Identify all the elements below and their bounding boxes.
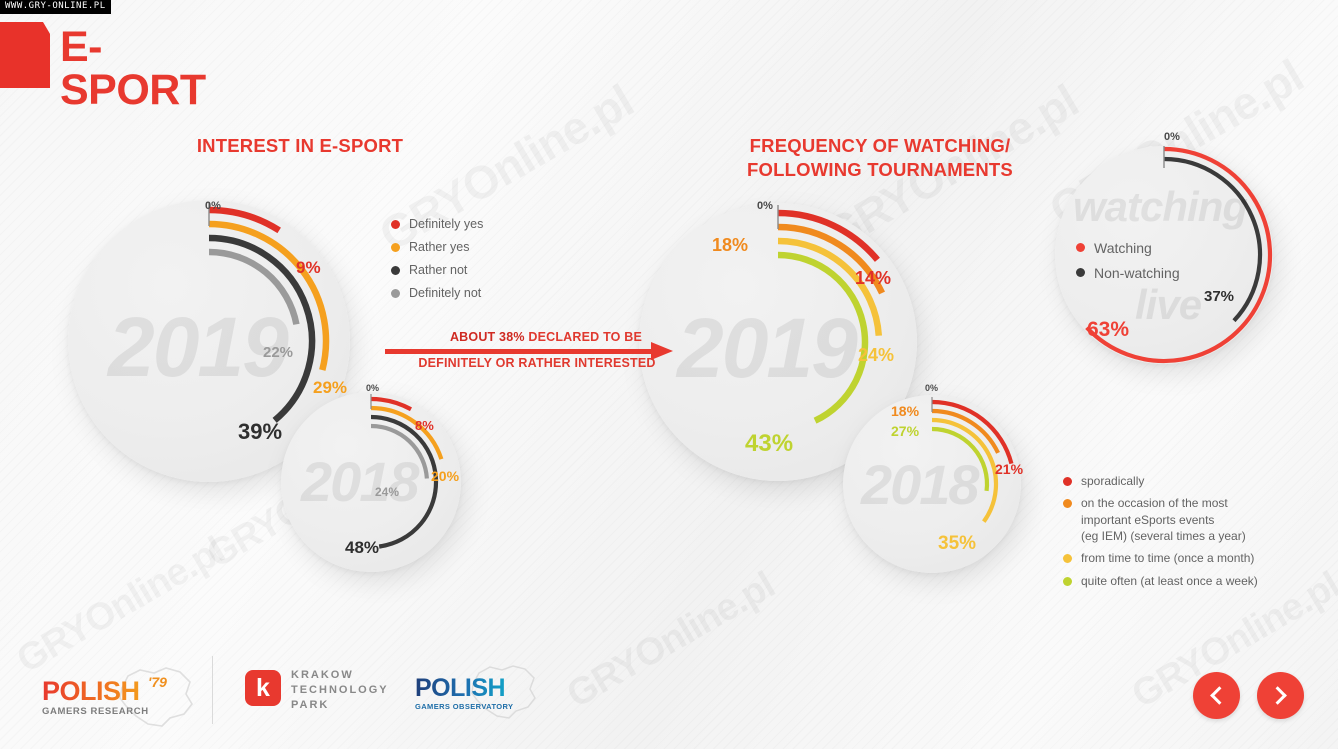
legend-item-label: Non-watching xyxy=(1094,264,1180,283)
callout-arrow xyxy=(385,346,685,355)
section-title-frequency: FREQUENCY OF WATCHING/ FOLLOWING TOURNAM… xyxy=(700,134,1060,181)
ktp-line-1: KRAKOW xyxy=(291,668,389,683)
value-label-non-watching: 37% xyxy=(1204,288,1234,305)
value-label-definitely-yes-2019: 9% xyxy=(296,258,321,278)
donut-arcs xyxy=(843,395,1021,573)
legend-color-dot-icon xyxy=(391,289,400,298)
legend-color-dot-icon xyxy=(1063,477,1072,486)
legend-color-dot-icon xyxy=(391,243,400,252)
legend-item[interactable]: Watching xyxy=(1076,239,1226,258)
zero-tick-label: 0% xyxy=(366,383,379,393)
legend-item-label: Definitely yes xyxy=(409,216,483,233)
legend-item[interactable]: from time to time (once a month) xyxy=(1063,550,1303,566)
legend-item-label: Rather yes xyxy=(409,239,469,256)
logo-pgo-word: POLISH xyxy=(415,676,505,701)
arc-definitely-not xyxy=(371,426,427,478)
callout-line-2: DEFINITELY OR RATHER INTERESTED xyxy=(389,356,685,370)
legend-item[interactable]: Definitely not xyxy=(391,285,571,302)
donut-frequency-2018: 2018 xyxy=(843,395,1021,573)
page-footer: POLISH '79 GAMERS RESEARCH k KRAKOW TECH… xyxy=(0,644,1338,749)
logo-pgr-word: POLISH xyxy=(42,678,140,705)
arrow-head-icon xyxy=(651,342,673,360)
legend-interest: Definitely yesRather yesRather notDefini… xyxy=(391,216,571,308)
value-label-rather-not-2019: 39% xyxy=(238,419,282,445)
section-title-frequency-line1: FREQUENCY OF WATCHING/ xyxy=(700,134,1060,158)
legend-item[interactable]: quite often (at least once a week) xyxy=(1063,573,1303,589)
callout-interest-summary: ABOUT 38% DECLARED TO BE DEFINITELY OR R… xyxy=(385,330,685,370)
logo-polish-gamers-observatory: POLISH GAMERS OBSERVATORY xyxy=(413,664,533,724)
logo-pgr-year: '79 xyxy=(148,674,167,690)
page-title: E-SPORT xyxy=(60,26,206,112)
legend-item-label: Rather not xyxy=(409,262,467,279)
value-label-definitely-not-2019: 22% xyxy=(263,344,293,361)
ktp-line-3: PARK xyxy=(291,698,389,713)
legend-item[interactable]: Rather yes xyxy=(391,239,571,256)
next-slide-button[interactable] xyxy=(1257,672,1304,719)
value-label-definitely-yes-2018: 8% xyxy=(415,418,434,433)
ktp-wordmark: KRAKOW TECHNOLOGY PARK xyxy=(291,668,389,713)
legend-item[interactable]: Rather not xyxy=(391,262,571,279)
legend-item-label: on the occasion of the most important eS… xyxy=(1081,495,1246,544)
previous-slide-button[interactable] xyxy=(1193,672,1240,719)
arc-definitely-not xyxy=(209,252,296,324)
section-title-interest: INTEREST IN E-SPORT xyxy=(150,134,450,158)
footer-divider xyxy=(212,656,213,724)
value-label-quite-often-2018: 27% xyxy=(891,423,919,439)
logo-krakow-technology-park: k KRAKOW TECHNOLOGY PARK xyxy=(245,664,420,724)
legend-item-label: Watching xyxy=(1094,239,1152,258)
value-label-occasion-2019: 18% xyxy=(712,235,748,256)
legend-color-dot-icon xyxy=(1063,554,1072,563)
arc-on-the-occasion xyxy=(932,411,998,453)
legend-color-dot-icon xyxy=(1076,268,1085,277)
zero-tick-label: 0% xyxy=(205,200,221,212)
legend-color-dot-icon xyxy=(1063,499,1072,508)
legend-item-label: sporadically xyxy=(1081,473,1144,489)
value-label-definitely-not-2018: 24% xyxy=(375,485,399,499)
legend-color-dot-icon xyxy=(1063,577,1072,586)
value-label-sporadically-2019: 14% xyxy=(855,268,891,289)
value-label-occasion-2018: 18% xyxy=(891,403,919,419)
zero-tick-label: 0% xyxy=(757,200,773,212)
legend-color-dot-icon xyxy=(1076,243,1085,252)
value-label-quite-often-2019: 43% xyxy=(745,430,793,458)
zero-tick-label: 0% xyxy=(1164,131,1180,143)
legend-item-label: from time to time (once a month) xyxy=(1081,550,1254,566)
logo-pgr-subtitle: GAMERS RESEARCH xyxy=(42,706,149,717)
legend-item-label: quite often (at least once a week) xyxy=(1081,573,1258,589)
value-label-time-to-time-2019: 24% xyxy=(858,345,894,366)
legend-item[interactable]: Definitely yes xyxy=(391,216,571,233)
legend-watching: WatchingNon-watching xyxy=(1076,239,1226,289)
header-accent-block xyxy=(0,22,50,88)
chevron-right-icon xyxy=(1268,686,1286,704)
ktp-line-2: TECHNOLOGY xyxy=(291,683,389,698)
section-title-frequency-line2: FOLLOWING TOURNAMENTS xyxy=(700,158,1060,182)
zero-tick-label: 0% xyxy=(925,383,938,393)
value-label-time-to-time-2018: 35% xyxy=(938,533,976,555)
legend-color-dot-icon xyxy=(391,266,400,275)
legend-item-label: Definitely not xyxy=(409,285,481,302)
legend-frequency: sporadicallyon the occasion of the most … xyxy=(1063,473,1303,595)
legend-item[interactable]: on the occasion of the most important eS… xyxy=(1063,495,1303,544)
logo-polish-gamers-research: POLISH '79 GAMERS RESEARCH xyxy=(40,662,200,732)
legend-item[interactable]: sporadically xyxy=(1063,473,1303,489)
legend-item[interactable]: Non-watching xyxy=(1076,264,1226,283)
value-label-watching: 63% xyxy=(1087,318,1129,342)
value-label-rather-yes-2019: 29% xyxy=(313,378,347,398)
value-label-rather-yes-2018: 20% xyxy=(431,468,459,484)
ktp-k-icon: k xyxy=(245,670,281,706)
callout-line-1-rest: DECLARED TO BE xyxy=(525,330,642,344)
source-url-badge: WWW.GRY-ONLINE.PL xyxy=(0,0,111,14)
callout-lead: ABOUT 38% xyxy=(450,330,525,344)
chevron-left-icon xyxy=(1210,686,1228,704)
value-label-sporadically-2018: 21% xyxy=(995,461,1023,477)
value-label-rather-not-2018: 48% xyxy=(345,538,379,558)
legend-color-dot-icon xyxy=(391,220,400,229)
arrow-shaft xyxy=(385,349,655,354)
callout-line-1: ABOUT 38% DECLARED TO BE xyxy=(407,330,685,344)
logo-pgo-subtitle: GAMERS OBSERVATORY xyxy=(415,702,513,711)
